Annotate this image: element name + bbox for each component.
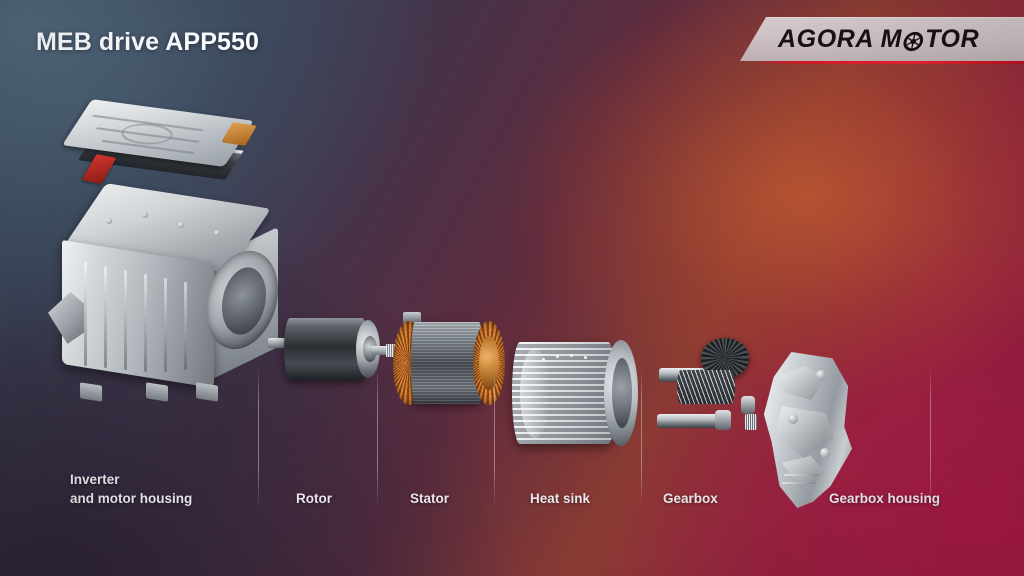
label-divider — [377, 368, 378, 508]
housing-rib — [104, 266, 107, 368]
housing-mount-foot — [196, 382, 218, 401]
logo-text-after: TOR — [925, 25, 979, 54]
gearbox-output-shaft — [657, 414, 719, 428]
brand-logo[interactable]: AGORA M TOR — [740, 17, 1024, 61]
part-label-gearbox-housing: Gearbox housing — [829, 489, 940, 508]
gearbox-helical-gear — [677, 370, 735, 404]
housing-nose — [48, 292, 84, 344]
heat-sink-flange-bore — [612, 358, 632, 428]
housing-bolt-boss — [106, 218, 112, 224]
gearbox-housing-boss — [788, 414, 798, 424]
part-label-gearbox: Gearbox — [663, 489, 718, 508]
logo-underline — [752, 61, 1024, 64]
stator-winding-end-cap — [479, 336, 499, 390]
gearbox-housing-boss — [820, 448, 830, 458]
gearbox-gears-icon — [657, 336, 769, 460]
heat-sink-port — [542, 358, 545, 361]
page-title: MEB drive APP550 — [36, 28, 259, 57]
housing-mount-foot — [80, 382, 102, 401]
part-label-stator: Stator — [410, 489, 449, 508]
inverter-module-icon — [58, 104, 258, 184]
housing-bolt-boss — [142, 212, 148, 218]
gearbox-housing-rib — [782, 482, 816, 484]
gearbox-housing-icon — [758, 352, 856, 508]
logo-wordmark: AGORA M TOR — [778, 17, 979, 61]
housing-mount-foot — [146, 382, 168, 401]
gearbox-housing-rib — [784, 474, 820, 476]
part-label-rotor: Rotor — [296, 489, 332, 508]
label-divider — [930, 368, 931, 508]
housing-rib — [124, 270, 127, 370]
label-divider — [494, 368, 495, 508]
motor-housing-icon — [50, 196, 286, 396]
gearbox-bearing-boss — [741, 396, 755, 414]
housing-rib — [164, 278, 167, 372]
heat-sink-port — [570, 354, 573, 357]
logo-text-before: AGORA M — [778, 25, 902, 54]
heat-sink-icon — [508, 334, 644, 450]
label-divider — [641, 368, 642, 508]
gearbox-bearing-boss — [715, 410, 731, 430]
gearbox-output-spline — [745, 414, 757, 430]
rotor-cylinder-icon — [268, 306, 390, 394]
heat-sink-port — [584, 356, 587, 359]
housing-rib — [144, 274, 147, 372]
heat-sink-port — [556, 355, 559, 358]
label-divider — [258, 368, 259, 508]
wheel-rim-icon — [901, 30, 926, 51]
housing-bolt-boss — [214, 230, 220, 236]
housing-rib — [84, 262, 87, 366]
housing-bolt-boss — [178, 222, 184, 228]
housing-rib — [184, 282, 187, 370]
slide-canvas: MEB drive APP550 AGORA M — [0, 0, 1024, 576]
gearbox-housing-boss — [816, 370, 826, 380]
heat-sink-highlight — [520, 348, 550, 438]
part-label-inverter: Inverter and motor housing — [70, 470, 192, 508]
part-label-heat-sink: Heat sink — [530, 489, 590, 508]
